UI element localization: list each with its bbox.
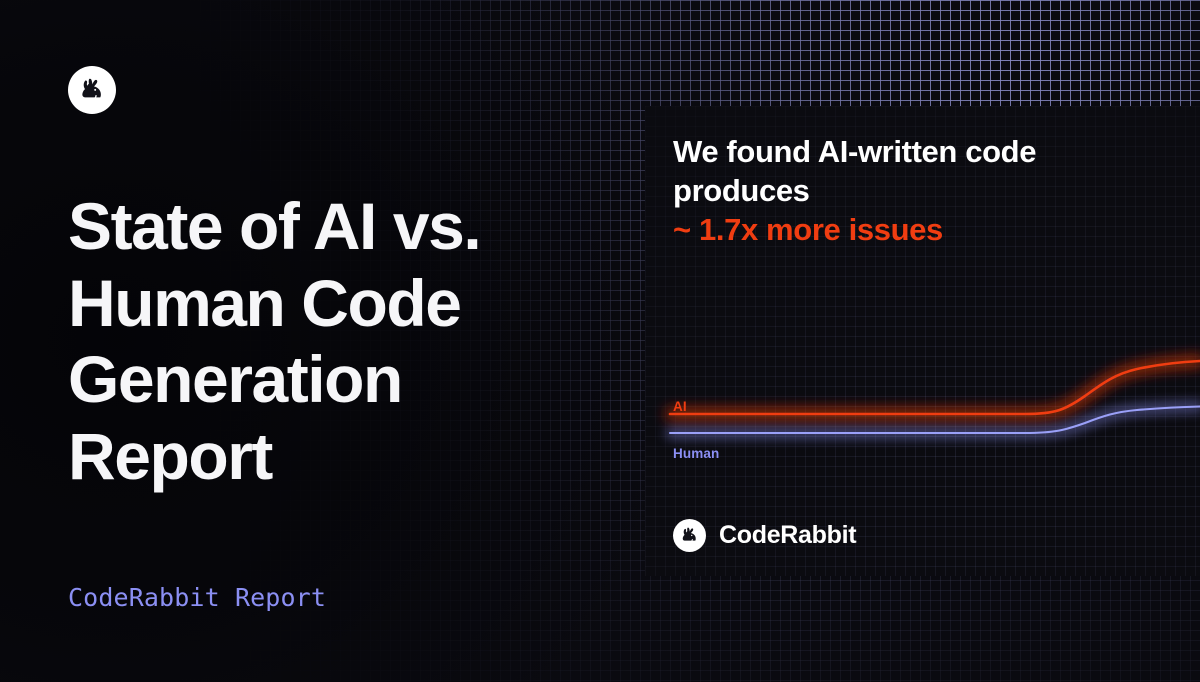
legend-label-ai: AI xyxy=(673,399,687,414)
report-cover: State of AI vs. Human Code Generation Re… xyxy=(0,0,1200,682)
page-title: State of AI vs. Human Code Generation Re… xyxy=(68,188,598,494)
series-ai-glow xyxy=(670,361,1200,414)
panel-brand-lockup: CodeRabbit xyxy=(673,519,856,552)
report-label: CodeRabbit Report xyxy=(68,583,326,612)
stat-panel: We found AI-written code produces ~ 1.7x… xyxy=(645,106,1200,576)
panel-headline-stat: ~ 1.7x more issues xyxy=(673,211,1173,250)
issues-line-chart: AI Human xyxy=(645,336,1200,496)
panel-headline-line-1: We found AI-written xyxy=(673,134,957,169)
legend-label-human: Human xyxy=(673,446,719,461)
series-ai-line xyxy=(670,361,1200,414)
rabbit-logo-icon xyxy=(68,66,116,114)
left-column: State of AI vs. Human Code Generation Re… xyxy=(0,0,640,682)
rabbit-logo-icon xyxy=(673,519,706,552)
panel-headline: We found AI-written code produces ~ 1.7x… xyxy=(673,133,1173,249)
brand-wordmark: CodeRabbit xyxy=(719,521,856,550)
